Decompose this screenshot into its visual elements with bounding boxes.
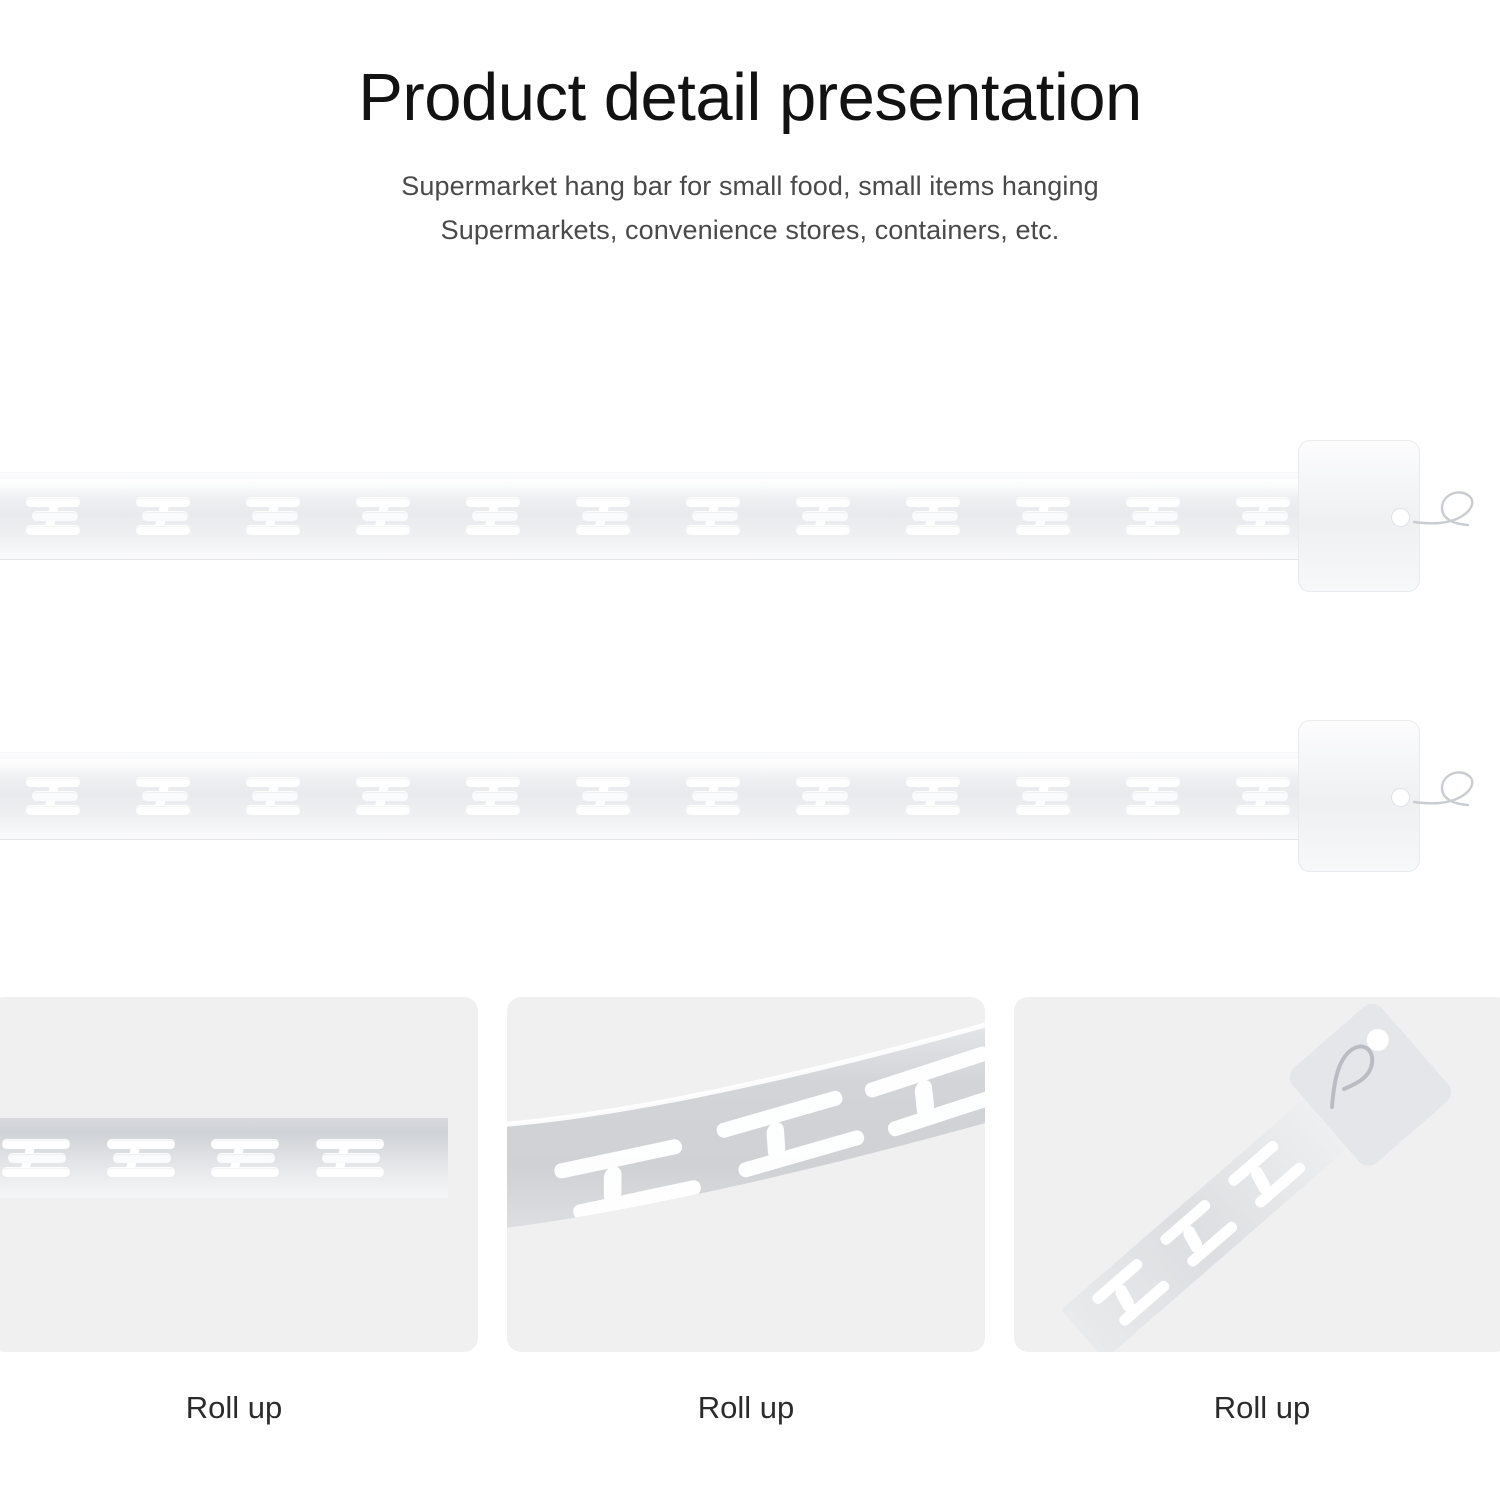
subtitle-line-2: Supermarkets, convenience stores, contai… xyxy=(0,209,1500,253)
strip-body xyxy=(1061,1093,1353,1352)
clip-cutout xyxy=(209,1131,283,1185)
panel-caption-closeup: Roll up xyxy=(0,1390,478,1426)
hang-strip xyxy=(0,472,1320,560)
clip-row xyxy=(24,765,1294,829)
clip-row xyxy=(0,1128,388,1188)
clip-cutout xyxy=(1124,489,1184,545)
clip-cutout xyxy=(105,1131,179,1185)
closeup-strip xyxy=(0,1118,448,1198)
wire-hook-icon xyxy=(1412,480,1490,560)
hang-strip xyxy=(0,752,1320,840)
subtitle-line-1: Supermarket hang bar for small food, sma… xyxy=(0,165,1500,209)
clip-cutout xyxy=(684,769,744,825)
clip-cutout xyxy=(1234,489,1294,545)
detail-panel-curved xyxy=(507,997,985,1352)
page-header: Product detail presentation Supermarket … xyxy=(0,0,1500,252)
tab-hole xyxy=(1392,789,1409,806)
detail-panel-row: Roll up Roll up Roll up xyxy=(0,997,1500,1500)
clip-cutout xyxy=(1014,769,1074,825)
hang-tab xyxy=(1298,440,1420,592)
detail-panel-diagonal xyxy=(1014,997,1500,1352)
clip-cutout xyxy=(134,769,194,825)
curved-strip-illustration xyxy=(507,997,985,1352)
clip-cutout xyxy=(134,489,194,545)
tab-hole xyxy=(1392,509,1409,526)
clip-cutout xyxy=(24,489,84,545)
clip-cutout xyxy=(574,489,634,545)
product-image-hang-bar-bottom xyxy=(0,720,1500,890)
clip-cutout xyxy=(464,489,524,545)
clip-cutout xyxy=(24,769,84,825)
clip-cutout xyxy=(314,1131,388,1185)
hang-tab xyxy=(1298,720,1420,872)
diagonal-strip-illustration xyxy=(1014,997,1500,1352)
product-image-hang-bar-top xyxy=(0,440,1500,610)
detail-panel-closeup xyxy=(0,997,478,1352)
clip-cutout xyxy=(1124,769,1184,825)
clip-cutout xyxy=(354,489,414,545)
clip-cutout xyxy=(244,489,304,545)
clip-cutout xyxy=(0,1131,74,1185)
clip-cutout xyxy=(794,489,854,545)
clip-cutout xyxy=(1234,769,1294,825)
panel-caption-diagonal: Roll up xyxy=(1014,1390,1500,1426)
clip-cutout xyxy=(354,769,414,825)
clip-cutout xyxy=(464,769,524,825)
panel-caption-curved: Roll up xyxy=(507,1390,985,1426)
page-title: Product detail presentation xyxy=(0,0,1500,131)
subtitle-block: Supermarket hang bar for small food, sma… xyxy=(0,165,1500,252)
clip-cutout xyxy=(1014,489,1074,545)
clip-cutout xyxy=(684,489,744,545)
clip-cutout xyxy=(574,769,634,825)
clip-cutout xyxy=(904,489,964,545)
clip-cutout xyxy=(244,769,304,825)
clip-cutout xyxy=(904,769,964,825)
clip-cutout xyxy=(794,769,854,825)
wire-hook-icon xyxy=(1412,760,1490,840)
clip-row xyxy=(24,485,1294,549)
